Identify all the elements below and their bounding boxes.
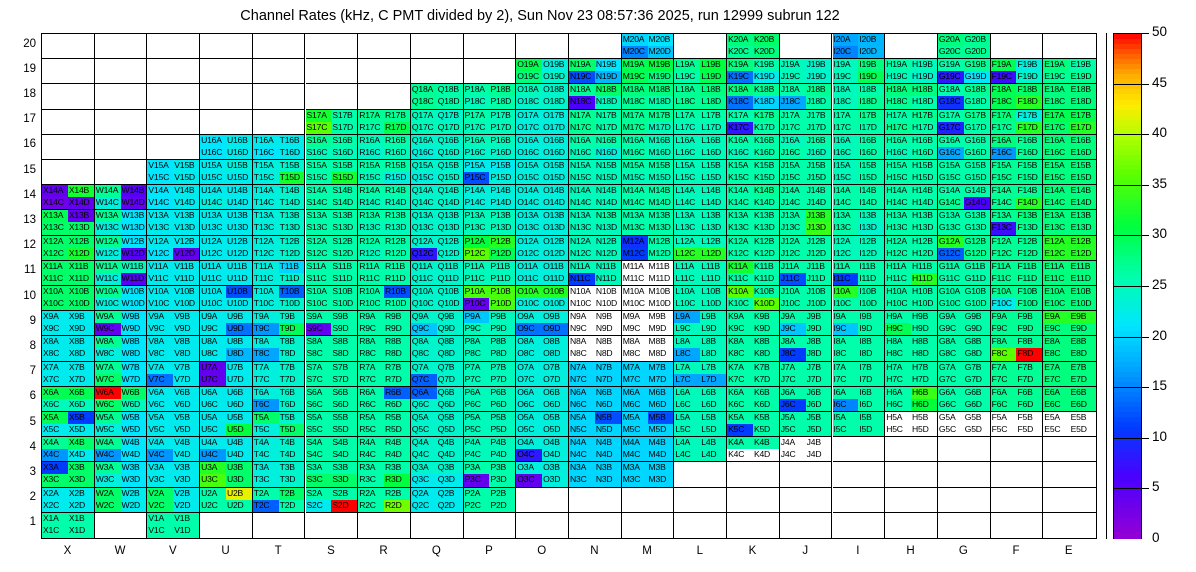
channel-W3A[interactable]: W3A [95, 462, 121, 474]
channel-O10D[interactable]: O10D [542, 298, 568, 310]
channel-E17A[interactable]: E17A [1043, 110, 1069, 122]
channel-G11D[interactable]: G11D [964, 273, 990, 285]
channel-N14B[interactable]: N14B [595, 185, 621, 197]
channel-N19D[interactable]: N19D [595, 71, 621, 83]
heatmap-cell-R1[interactable] [358, 513, 410, 538]
channel-N13D[interactable]: N13D [595, 222, 621, 234]
heatmap-cell-X19[interactable] [42, 59, 94, 84]
channel-W7B[interactable]: W7B [121, 362, 147, 374]
channel-O3D[interactable]: O3D [542, 474, 568, 486]
channel-W2B[interactable]: W2B [121, 488, 147, 500]
channel-F9B[interactable]: F9B [1016, 311, 1042, 323]
channel-L8A[interactable]: L8A [674, 336, 700, 348]
channel-M16D[interactable]: M16D [648, 147, 674, 159]
channel-N18B[interactable]: N18B [595, 84, 621, 96]
channel-F7C[interactable]: F7C [991, 374, 1017, 386]
channel-M9C[interactable]: M9C [622, 323, 648, 335]
channel-V5A[interactable]: V5A [147, 412, 173, 424]
channel-S2B[interactable]: S2B [331, 488, 357, 500]
channel-V7C[interactable]: V7C [147, 374, 173, 386]
heatmap-cell-O7[interactable]: O7AO7BO7CO7D [516, 362, 568, 387]
channel-K13A[interactable]: K13A [727, 210, 753, 222]
channel-I6A[interactable]: I6A [833, 387, 859, 399]
channel-U7C[interactable]: U7C [200, 374, 226, 386]
channel-J13B[interactable]: J13B [806, 210, 832, 222]
channel-Q5D[interactable]: Q5D [437, 424, 463, 436]
channel-J15A[interactable]: J15A [780, 160, 806, 172]
heatmap-cell-P20[interactable] [464, 34, 516, 59]
heatmap-cell-R19[interactable] [358, 59, 410, 84]
channel-J5A[interactable]: J5A [780, 412, 806, 424]
channel-T3C[interactable]: T3C [253, 474, 279, 486]
channel-H10C[interactable]: H10C [885, 298, 911, 310]
heatmap-cell-M11[interactable]: M11AM11BM11CM11D [622, 261, 674, 286]
channel-P17A[interactable]: P17A [464, 110, 490, 122]
heatmap-cell-X10[interactable]: X10AX10BX10CX10D [42, 286, 94, 311]
channel-H19A[interactable]: H19A [885, 59, 911, 71]
heatmap-cell-H10[interactable]: H10AH10BH10CH10D [885, 286, 937, 311]
channel-K5D[interactable]: K5D [753, 424, 779, 436]
heatmap-cell-W17[interactable] [95, 110, 147, 135]
heatmap-cell-V2[interactable]: V2AV2BV2CV2D [147, 488, 199, 513]
channel-Q5B[interactable]: Q5B [437, 412, 463, 424]
channel-L15C[interactable]: L15C [674, 172, 700, 184]
channel-T15D[interactable]: T15D [279, 172, 305, 184]
channel-F19B[interactable]: F19B [1016, 59, 1042, 71]
heatmap-cell-V6[interactable]: V6AV6BV6CV6D [147, 387, 199, 412]
heatmap-cell-R4[interactable]: R4AR4BR4CR4D [358, 437, 410, 462]
channel-Q6B[interactable]: Q6B [437, 387, 463, 399]
channel-V15C[interactable]: V15C [147, 172, 173, 184]
channel-G5C[interactable]: G5C [938, 424, 964, 436]
channel-P15D[interactable]: P15D [489, 172, 515, 184]
channel-I13A[interactable]: I13A [833, 210, 859, 222]
channel-W3B[interactable]: W3B [121, 462, 147, 474]
channel-K14B[interactable]: K14B [753, 185, 779, 197]
channel-F6D[interactable]: F6D [1016, 399, 1042, 411]
channel-H9A[interactable]: H9A [885, 311, 911, 323]
channel-V3D[interactable]: V3D [173, 474, 199, 486]
heatmap-cell-U4[interactable]: U4AU4BU4CU4D [200, 437, 252, 462]
channel-W4D[interactable]: W4D [121, 449, 147, 461]
channel-L15B[interactable]: L15B [700, 160, 726, 172]
channel-R16C[interactable]: R16C [358, 147, 384, 159]
heatmap-cell-X4[interactable]: X4AX4BX4CX4D [42, 437, 94, 462]
heatmap-cell-P3[interactable]: P3AP3BP3CP3D [464, 462, 516, 487]
channel-I17A[interactable]: I17A [833, 110, 859, 122]
channel-O9B[interactable]: O9B [542, 311, 568, 323]
channel-K11B[interactable]: K11B [753, 261, 779, 273]
channel-G15D[interactable]: G15D [964, 172, 990, 184]
heatmap-cell-W4[interactable]: W4AW4BW4CW4D [95, 437, 147, 462]
channel-K5A[interactable]: K5A [727, 412, 753, 424]
channel-Q11A[interactable]: Q11A [411, 261, 437, 273]
channel-K11D[interactable]: K11D [753, 273, 779, 285]
channel-J4D[interactable]: J4D [806, 449, 832, 461]
channel-K14D[interactable]: K14D [753, 197, 779, 209]
channel-W12D[interactable]: W12D [121, 248, 147, 260]
heatmap-cell-H14[interactable]: H14AH14BH14CH14D [885, 185, 937, 210]
channel-J11C[interactable]: J11C [780, 273, 806, 285]
channel-K6D[interactable]: K6D [753, 399, 779, 411]
heatmap-cell-S18[interactable] [306, 84, 358, 109]
channel-V12A[interactable]: V12A [147, 236, 173, 248]
heatmap-cell-P2[interactable]: P2AP2BP2CP2D [464, 488, 516, 513]
channel-Q15D[interactable]: Q15D [437, 172, 463, 184]
channel-X10A[interactable]: X10A [42, 286, 68, 298]
channel-I15A[interactable]: I15A [833, 160, 859, 172]
channel-S7A[interactable]: S7A [306, 362, 332, 374]
heatmap-cell-J5[interactable]: J5AJ5BJ5CJ5D [780, 412, 832, 437]
channel-N4D[interactable]: N4D [595, 449, 621, 461]
channel-O11A[interactable]: O11A [516, 261, 542, 273]
channel-S15B[interactable]: S15B [331, 160, 357, 172]
heatmap-cell-F14[interactable]: F14AF14BF14CF14D [991, 185, 1043, 210]
heatmap-cell-L17[interactable]: L17AL17BL17CL17D [674, 110, 726, 135]
heatmap-cell-R11[interactable]: R11AR11BR11CR11D [358, 261, 410, 286]
channel-P14A[interactable]: P14A [464, 185, 490, 197]
heatmap-cell-E11[interactable]: E11AE11BE11CE11D [1043, 261, 1096, 286]
channel-T13D[interactable]: T13D [279, 222, 305, 234]
channel-H19B[interactable]: H19B [911, 59, 937, 71]
channel-K9A[interactable]: K9A [727, 311, 753, 323]
heatmap-cell-V11[interactable]: V11AV11BV11CV11D [147, 261, 199, 286]
channel-S10B[interactable]: S10B [331, 286, 357, 298]
channel-K10B[interactable]: K10B [753, 286, 779, 298]
heatmap-cell-P12[interactable]: P12AP12BP12CP12D [464, 236, 516, 261]
heatmap-cell-W9[interactable]: W9AW9BW9CW9D [95, 311, 147, 336]
channel-I16A[interactable]: I16A [833, 135, 859, 147]
heatmap-cell-Q17[interactable]: Q17AQ17BQ17CQ17D [411, 110, 463, 135]
channel-O12C[interactable]: O12C [516, 248, 542, 260]
channel-E12A[interactable]: E12A [1043, 236, 1069, 248]
channel-K17A[interactable]: K17A [727, 110, 753, 122]
heatmap-cell-J15[interactable]: J15AJ15BJ15CJ15D [780, 160, 832, 185]
channel-U6C[interactable]: U6C [200, 399, 226, 411]
channel-V1A[interactable]: V1A [147, 513, 173, 526]
heatmap-cell-P10[interactable]: P10AP10BP10CP10D [464, 286, 516, 311]
channel-V5D[interactable]: V5D [173, 424, 199, 436]
heatmap-cell-L6[interactable]: L6AL6BL6CL6D [674, 387, 726, 412]
channel-V5B[interactable]: V5B [173, 412, 199, 424]
channel-N15B[interactable]: N15B [595, 160, 621, 172]
channel-W12A[interactable]: W12A [95, 236, 121, 248]
channel-E10C[interactable]: E10C [1043, 298, 1069, 310]
channel-S11D[interactable]: S11D [331, 273, 357, 285]
channel-V6D[interactable]: V6D [173, 399, 199, 411]
heatmap-cell-U10[interactable]: U10AU10BU10CU10D [200, 286, 252, 311]
channel-F13A[interactable]: F13A [991, 210, 1017, 222]
channel-V8A[interactable]: V8A [147, 336, 173, 348]
channel-F5B[interactable]: F5B [1016, 412, 1042, 424]
channel-J9C[interactable]: J9C [780, 323, 806, 335]
channel-R5C[interactable]: R5C [358, 424, 384, 436]
channel-S16D[interactable]: S16D [331, 147, 357, 159]
channel-R6C[interactable]: R6C [358, 399, 384, 411]
heatmap-cell-O17[interactable]: O17AO17BO17CO17D [516, 110, 568, 135]
channel-P15B[interactable]: P15B [489, 160, 515, 172]
channel-U6A[interactable]: U6A [200, 387, 226, 399]
channel-W14A[interactable]: W14A [95, 185, 121, 197]
channel-S9D[interactable]: S9D [331, 323, 357, 335]
channel-M12C[interactable]: M12C [622, 248, 648, 260]
channel-J17D[interactable]: J17D [806, 122, 832, 134]
channel-N19A[interactable]: N19A [569, 59, 595, 71]
heatmap-cell-I5[interactable]: I5AI5BI5CI5D [833, 412, 885, 437]
channel-L17B[interactable]: L17B [700, 110, 726, 122]
channel-F17C[interactable]: F17C [991, 122, 1017, 134]
channel-L8C[interactable]: L8C [674, 348, 700, 360]
channel-P3B[interactable]: P3B [489, 462, 515, 474]
channel-R15C[interactable]: R15C [358, 172, 384, 184]
channel-R2B[interactable]: R2B [384, 488, 410, 500]
channel-E14C[interactable]: E14C [1043, 197, 1069, 209]
heatmap-cell-O14[interactable]: O14AO14BO14CO14D [516, 185, 568, 210]
channel-G16C[interactable]: G16C [938, 147, 964, 159]
heatmap-cell-N18[interactable]: N18AN18BN18CN18D [569, 84, 621, 109]
channel-J13A[interactable]: J13A [780, 210, 806, 222]
channel-T15C[interactable]: T15C [253, 172, 279, 184]
channel-Q18B[interactable]: Q18B [437, 84, 463, 96]
channel-O11D[interactable]: O11D [542, 273, 568, 285]
heatmap-cell-J18[interactable]: J18AJ18BJ18CJ18D [780, 84, 832, 109]
channel-N10C[interactable]: N10C [569, 298, 595, 310]
channel-I7C[interactable]: I7C [833, 374, 859, 386]
channel-E11C[interactable]: E11C [1043, 273, 1069, 285]
channel-P15A[interactable]: P15A [464, 160, 490, 172]
channel-P10A[interactable]: P10A [464, 286, 490, 298]
channel-O17B[interactable]: O17B [542, 110, 568, 122]
channel-I6C[interactable]: I6C [833, 399, 859, 411]
channel-G5B[interactable]: G5B [964, 412, 990, 424]
channel-J13D[interactable]: J13D [806, 222, 832, 234]
heatmap-cell-I6[interactable]: I6AI6BI6CI6D [833, 387, 885, 412]
heatmap-cell-U17[interactable] [200, 110, 252, 135]
channel-K15B[interactable]: K15B [753, 160, 779, 172]
heatmap-cell-X5[interactable]: X5AX5BX5CX5D [42, 412, 94, 437]
channel-O15D[interactable]: O15D [542, 172, 568, 184]
heatmap-cell-H4[interactable] [885, 437, 937, 462]
channel-H10A[interactable]: H10A [885, 286, 911, 298]
heatmap-cell-E17[interactable]: E17AE17BE17CE17D [1043, 110, 1096, 135]
channel-N16C[interactable]: N16C [569, 147, 595, 159]
channel-L16B[interactable]: L16B [700, 135, 726, 147]
heatmap-cell-H2[interactable] [885, 488, 937, 513]
channel-I14D[interactable]: I14D [858, 197, 884, 209]
channel-T8D[interactable]: T8D [279, 348, 305, 360]
channel-T5A[interactable]: T5A [253, 412, 279, 424]
heatmap-cell-F8[interactable]: F8AF8BF8CF8D [991, 336, 1043, 361]
channel-G6D[interactable]: G6D [964, 399, 990, 411]
channel-P7D[interactable]: P7D [489, 374, 515, 386]
channel-H16A[interactable]: H16A [885, 135, 911, 147]
heatmap-cell-P13[interactable]: P13AP13BP13CP13D [464, 210, 516, 235]
heatmap-cell-R5[interactable]: R5AR5BR5CR5D [358, 412, 410, 437]
channel-N3C[interactable]: N3C [569, 474, 595, 486]
channel-T14D[interactable]: T14D [279, 197, 305, 209]
channel-K16C[interactable]: K16C [727, 147, 753, 159]
channel-M16A[interactable]: M16A [622, 135, 648, 147]
channel-L14A[interactable]: L14A [674, 185, 700, 197]
channel-H9C[interactable]: H9C [885, 323, 911, 335]
heatmap-cell-F16[interactable]: F16AF16BF16CF16D [991, 135, 1043, 160]
channel-Q17B[interactable]: Q17B [437, 110, 463, 122]
heatmap-cell-Q7[interactable]: Q7AQ7BQ7CQ7D [411, 362, 463, 387]
channel-J6C[interactable]: J6C [780, 399, 806, 411]
heatmap-cell-W11[interactable]: W11AW11BW11CW11D [95, 261, 147, 286]
heatmap-cell-F10[interactable]: F10AF10BF10CF10D [991, 286, 1043, 311]
channel-N7C[interactable]: N7C [569, 374, 595, 386]
heatmap-cell-X7[interactable]: X7AX7BX7CX7D [42, 362, 94, 387]
channel-E19C[interactable]: E19C [1043, 71, 1069, 83]
channel-X12C[interactable]: X12C [42, 248, 68, 260]
channel-T9C[interactable]: T9C [253, 323, 279, 335]
channel-N14C[interactable]: N14C [569, 197, 595, 209]
heatmap-cell-N13[interactable]: N13AN13BN13CN13D [569, 210, 621, 235]
channel-T7C[interactable]: T7C [253, 374, 279, 386]
heatmap-cell-K14[interactable]: K14AK14BK14CK14D [727, 185, 779, 210]
channel-H11C[interactable]: H11C [885, 273, 911, 285]
heatmap-cell-K6[interactable]: K6AK6BK6CK6D [727, 387, 779, 412]
heatmap-cell-S9[interactable]: S9AS9BS9CS9D [306, 311, 358, 336]
channel-N13A[interactable]: N13A [569, 210, 595, 222]
channel-J18D[interactable]: J18D [806, 96, 832, 108]
channel-J16B[interactable]: J16B [806, 135, 832, 147]
heatmap-cell-E4[interactable] [1043, 437, 1096, 462]
channel-P14D[interactable]: P14D [489, 197, 515, 209]
channel-G9A[interactable]: G9A [938, 311, 964, 323]
channel-K6B[interactable]: K6B [753, 387, 779, 399]
channel-N11A[interactable]: N11A [569, 261, 595, 273]
channel-R13D[interactable]: R13D [384, 222, 410, 234]
channel-U8D[interactable]: U8D [226, 348, 252, 360]
channel-P13A[interactable]: P13A [464, 210, 490, 222]
channel-N15D[interactable]: N15D [595, 172, 621, 184]
channel-H11A[interactable]: H11A [885, 261, 911, 273]
channel-V14A[interactable]: V14A [147, 185, 173, 197]
channel-W10B[interactable]: W10B [121, 286, 147, 298]
channel-H18B[interactable]: H18B [911, 84, 937, 96]
channel-R13B[interactable]: R13B [384, 210, 410, 222]
channel-R17B[interactable]: R17B [384, 110, 410, 122]
channel-V10A[interactable]: V10A [147, 286, 173, 298]
channel-L5C[interactable]: L5C [674, 424, 700, 436]
channel-I15C[interactable]: I15C [833, 172, 859, 184]
channel-X1C[interactable]: X1C [42, 525, 68, 538]
heatmap-cell-P9[interactable]: P9AP9BP9CP9D [464, 311, 516, 336]
channel-O14A[interactable]: O14A [516, 185, 542, 197]
channel-N8D[interactable]: N8D [595, 348, 621, 360]
heatmap-cell-K1[interactable] [727, 513, 779, 538]
channel-P12B[interactable]: P12B [489, 236, 515, 248]
channel-G14C[interactable]: G14C [938, 197, 964, 209]
heatmap-cell-R6[interactable]: R6AR6BR6CR6D [358, 387, 410, 412]
channel-Q18C[interactable]: Q18C [411, 96, 437, 108]
channel-L17D[interactable]: L17D [700, 122, 726, 134]
channel-U8C[interactable]: U8C [200, 348, 226, 360]
channel-P9C[interactable]: P9C [464, 323, 490, 335]
channel-Q2B[interactable]: Q2B [437, 488, 463, 500]
channel-V13B[interactable]: V13B [173, 210, 199, 222]
channel-R7A[interactable]: R7A [358, 362, 384, 374]
channel-T5B[interactable]: T5B [279, 412, 305, 424]
channel-T11D[interactable]: T11D [279, 273, 305, 285]
channel-O19B[interactable]: O19B [542, 59, 568, 71]
channel-E19A[interactable]: E19A [1043, 59, 1069, 71]
channel-R14A[interactable]: R14A [358, 185, 384, 197]
channel-U7B[interactable]: U7B [226, 362, 252, 374]
heatmap-cell-O19[interactable]: O19AO19BO19CO19D [516, 59, 568, 84]
channel-J14A[interactable]: J14A [780, 185, 806, 197]
channel-N13C[interactable]: N13C [569, 222, 595, 234]
channel-K13B[interactable]: K13B [753, 210, 779, 222]
heatmap-cell-I7[interactable]: I7AI7BI7CI7D [833, 362, 885, 387]
channel-T9A[interactable]: T9A [253, 311, 279, 323]
channel-S6A[interactable]: S6A [306, 387, 332, 399]
channel-W9A[interactable]: W9A [95, 311, 121, 323]
channel-W10D[interactable]: W10D [121, 298, 147, 310]
channel-G10C[interactable]: G10C [938, 298, 964, 310]
channel-U13B[interactable]: U13B [226, 210, 252, 222]
heatmap-cell-G13[interactable]: G13AG13BG13CG13D [938, 210, 990, 235]
channel-N4C[interactable]: N4C [569, 449, 595, 461]
channel-G11A[interactable]: G11A [938, 261, 964, 273]
channel-S7D[interactable]: S7D [331, 374, 357, 386]
channel-L17A[interactable]: L17A [674, 110, 700, 122]
channel-R10A[interactable]: R10A [358, 286, 384, 298]
channel-P17C[interactable]: P17C [464, 122, 490, 134]
channel-T8A[interactable]: T8A [253, 336, 279, 348]
channel-P4B[interactable]: P4B [489, 437, 515, 449]
channel-R6D[interactable]: R6D [384, 399, 410, 411]
channel-M3B[interactable]: M3B [648, 462, 674, 474]
heatmap-cell-Q20[interactable] [411, 34, 463, 59]
channel-N17A[interactable]: N17A [569, 110, 595, 122]
channel-M4B[interactable]: M4B [648, 437, 674, 449]
channel-I19A[interactable]: I19A [833, 59, 859, 71]
channel-M4A[interactable]: M4A [622, 437, 648, 449]
channel-O19A[interactable]: O19A [516, 59, 542, 71]
heatmap-cell-K8[interactable]: K8AK8BK8CK8D [727, 336, 779, 361]
channel-T14C[interactable]: T14C [253, 197, 279, 209]
channel-O8D[interactable]: O8D [542, 348, 568, 360]
heatmap-cell-F15[interactable]: F15AF15BF15CF15D [991, 160, 1043, 185]
channel-S6D[interactable]: S6D [331, 399, 357, 411]
heatmap-cell-V19[interactable] [147, 59, 199, 84]
channel-R11D[interactable]: R11D [384, 273, 410, 285]
channel-O15C[interactable]: O15C [516, 172, 542, 184]
channel-V11B[interactable]: V11B [173, 261, 199, 273]
channel-M8D[interactable]: M8D [648, 348, 674, 360]
channel-Q12B[interactable]: Q12B [437, 236, 463, 248]
heatmap-cell-W16[interactable] [95, 135, 147, 160]
channel-X9C[interactable]: X9C [42, 323, 68, 335]
channel-O19D[interactable]: O19D [542, 71, 568, 83]
channel-V1C[interactable]: V1C [147, 525, 173, 538]
heatmap-cell-V10[interactable]: V10AV10BV10CV10D [147, 286, 199, 311]
channel-J17B[interactable]: J17B [806, 110, 832, 122]
channel-N6C[interactable]: N6C [569, 399, 595, 411]
heatmap-cell-R13[interactable]: R13AR13BR13CR13D [358, 210, 410, 235]
channel-X8A[interactable]: X8A [42, 336, 68, 348]
channel-M14A[interactable]: M14A [622, 185, 648, 197]
heatmap-cell-S3[interactable]: S3AS3BS3CS3D [306, 462, 358, 487]
channel-O18C[interactable]: O18C [516, 96, 542, 108]
channel-G10A[interactable]: G10A [938, 286, 964, 298]
channel-Q12A[interactable]: Q12A [411, 236, 437, 248]
channel-J5D[interactable]: J5D [806, 424, 832, 436]
channel-T12A[interactable]: T12A [253, 236, 279, 248]
